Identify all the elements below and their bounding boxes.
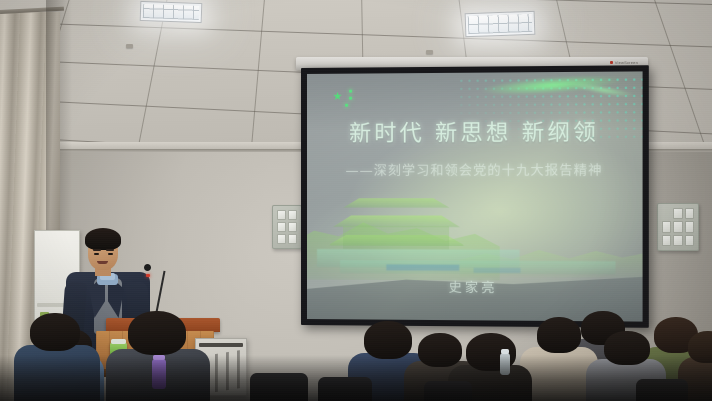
- flag-dot-icon: [349, 97, 352, 100]
- screen-brand-logo: ViewScreen: [610, 60, 638, 65]
- switch-key[interactable]: [673, 235, 682, 246]
- purple-water-bottle: [152, 359, 166, 389]
- ceiling-speaker-right: [426, 50, 433, 54]
- switch-key[interactable]: [685, 221, 694, 232]
- tower-body: [343, 226, 449, 249]
- ceiling-light-right: [465, 11, 536, 37]
- switch-key[interactable]: [685, 208, 694, 219]
- switch-key[interactable]: [288, 234, 297, 244]
- light-switch-panel-right[interactable]: [657, 203, 699, 251]
- presenter-hair: [85, 228, 121, 250]
- slide-title: 新时代 新思想 新纲领: [307, 114, 643, 148]
- slide-subtitle: ——深刻学习和领会党的十九大报告精神: [307, 159, 643, 179]
- switch-key[interactable]: [685, 235, 694, 246]
- chair-back: [636, 379, 688, 401]
- lecture-room-photo: ViewScreen: [0, 0, 712, 401]
- ceiling-speaker-left: [126, 44, 133, 48]
- light-switch-panel-left[interactable]: [272, 205, 302, 249]
- tower-roof-upper: [330, 196, 463, 208]
- chair-back: [424, 381, 472, 401]
- switch-key[interactable]: [288, 222, 297, 232]
- switch-key[interactable]: [277, 222, 286, 232]
- chair-back: [250, 373, 308, 401]
- flag-dot-icon: [349, 90, 352, 93]
- switch-key[interactable]: [277, 210, 286, 220]
- audience-seating: [0, 251, 712, 401]
- clear-water-bottle: [500, 353, 510, 375]
- chair-back: [318, 377, 372, 401]
- switch-key[interactable]: [662, 221, 671, 232]
- switch-key[interactable]: [662, 235, 671, 246]
- attendee-front-left: [14, 323, 100, 401]
- ceiling-light-left: [140, 1, 203, 23]
- switch-key[interactable]: [673, 221, 682, 232]
- flag-dot-icon: [345, 104, 348, 107]
- switch-key[interactable]: [288, 210, 297, 220]
- switch-key[interactable]: [277, 234, 286, 244]
- switch-key[interactable]: [673, 208, 682, 219]
